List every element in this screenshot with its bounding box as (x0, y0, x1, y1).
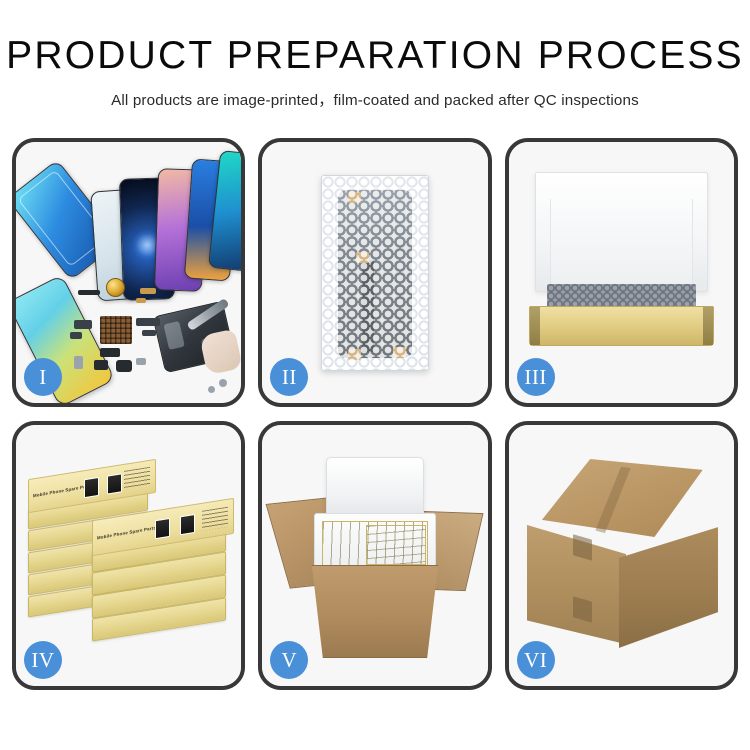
inner-box-illustration (521, 166, 722, 373)
panel-badge-6: VI (517, 641, 555, 679)
panel-badge-4: IV (24, 641, 62, 679)
sealed-carton-illustration (527, 459, 718, 654)
part-metal-icon (136, 358, 146, 365)
carton-right-face (619, 519, 718, 648)
chip-grid-icon (100, 316, 132, 344)
screw-icon (219, 379, 227, 387)
white-box-lid (535, 172, 708, 292)
foam-lid (326, 457, 423, 519)
page-subtitle: All products are image-printed，film-coat… (0, 88, 750, 110)
panel-badge-1: I (24, 358, 62, 396)
panel-step-5: V (258, 421, 491, 690)
part-flex-left-icon (74, 320, 92, 329)
panel-step-2: II (258, 138, 491, 407)
panel-step-3: III (505, 138, 738, 407)
box-window-icon (180, 514, 195, 535)
part-sim-tray-icon (74, 356, 83, 369)
header: PRODUCT PREPARATION PROCESS All products… (0, 0, 750, 110)
part-gold-connector-icon (140, 288, 156, 294)
box-window-icon (155, 518, 170, 539)
panel-step-6: VI (505, 421, 738, 690)
process-panel-grid: I II (12, 138, 738, 690)
bubble-wrap-bag (321, 175, 429, 371)
part-speaker-icon (116, 360, 132, 372)
part-flex-right2-icon (142, 330, 156, 336)
bubble-texture-overlay (322, 176, 428, 370)
carton-left-face (527, 512, 626, 645)
box-print-lines (124, 467, 150, 490)
screw-2-icon (208, 386, 215, 393)
page-title: PRODUCT PREPARATION PROCESS (0, 36, 750, 75)
panel-step-4: Mobile Phone Spare Parts Mobile Phone Sp… (12, 421, 245, 690)
panel-badge-3: III (517, 358, 555, 396)
part-flex-right-icon (136, 318, 160, 326)
boxes-stack-illustration: Mobile Phone Spare Parts Mobile Phone Sp… (26, 447, 231, 672)
part-gold-small-icon (136, 298, 146, 303)
box-window-icon (107, 474, 122, 495)
part-strip-icon (78, 290, 100, 295)
hand-icon (200, 329, 244, 376)
inner-boxes-row-2 (366, 525, 425, 565)
product-preparation-infographic: PRODUCT PREPARATION PROCESS All products… (0, 0, 750, 750)
box-label-text: Mobile Phone Spare Parts (33, 483, 92, 498)
box-label-text: Mobile Phone Spare Parts (97, 525, 156, 540)
panel-step-1: I (12, 138, 245, 407)
part-flex-left2-icon (70, 332, 82, 339)
box-window-icon (84, 477, 99, 498)
camera-lens-icon (106, 278, 125, 297)
carton-body (306, 565, 443, 658)
part-bracket-icon (94, 360, 108, 370)
part-block-icon (100, 348, 120, 357)
box-print-lines (202, 507, 228, 531)
kraft-box-tray (529, 306, 714, 346)
